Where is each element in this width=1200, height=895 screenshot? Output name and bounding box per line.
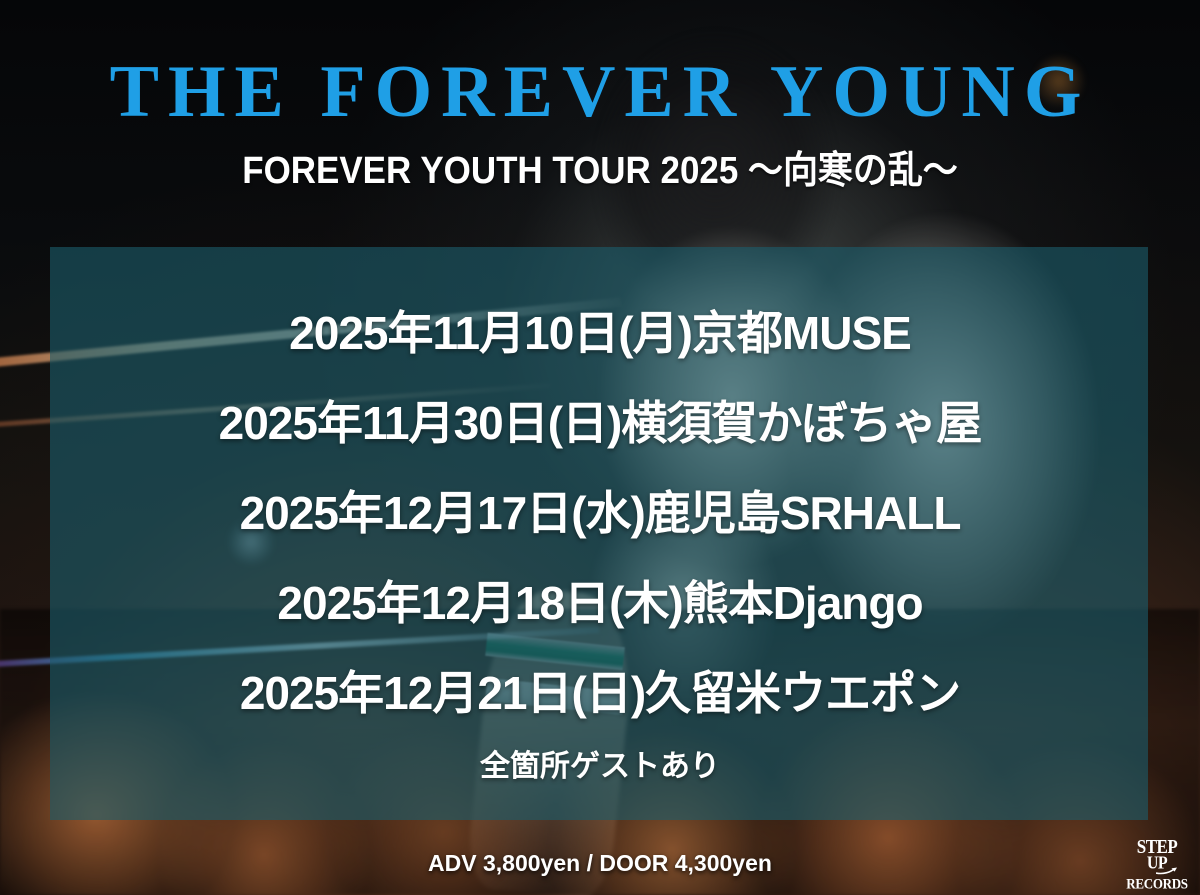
logo-line-records: RECORDS: [1126, 876, 1188, 890]
tour-date-row: 2025年12月17日(水)鹿児島SRHALL: [0, 468, 1200, 558]
guest-note: 全箇所ゲストあり: [0, 752, 1200, 782]
tour-date-row: 2025年11月30日(日)横須賀かぼちゃ屋: [0, 378, 1200, 468]
tour-date-row: 2025年12月18日(木)熊本Django: [0, 558, 1200, 648]
ticket-price: ADV 3,800yen / DOOR 4,300yen: [0, 852, 1200, 875]
tour-date-list: 2025年11月10日(月)京都MUSE 2025年11月30日(日)横須賀かぼ…: [0, 288, 1200, 738]
tour-date-row: 2025年11月10日(月)京都MUSE: [0, 288, 1200, 378]
band-name: THE FOREVER YOUNG: [0, 55, 1200, 129]
arrow-icon: [1156, 866, 1178, 875]
tour-date-row: 2025年12月21日(日)久留米ウエポン: [0, 648, 1200, 738]
tour-poster: THE FOREVER YOUNG FOREVER YOUTH TOUR 202…: [0, 0, 1200, 895]
tour-title: FOREVER YOUTH TOUR 2025 〜向寒の乱〜: [48, 152, 1152, 190]
poster-text-layer: THE FOREVER YOUNG FOREVER YOUTH TOUR 202…: [0, 0, 1200, 895]
step-up-records-logo: STEP UP RECORDS: [1126, 838, 1188, 888]
